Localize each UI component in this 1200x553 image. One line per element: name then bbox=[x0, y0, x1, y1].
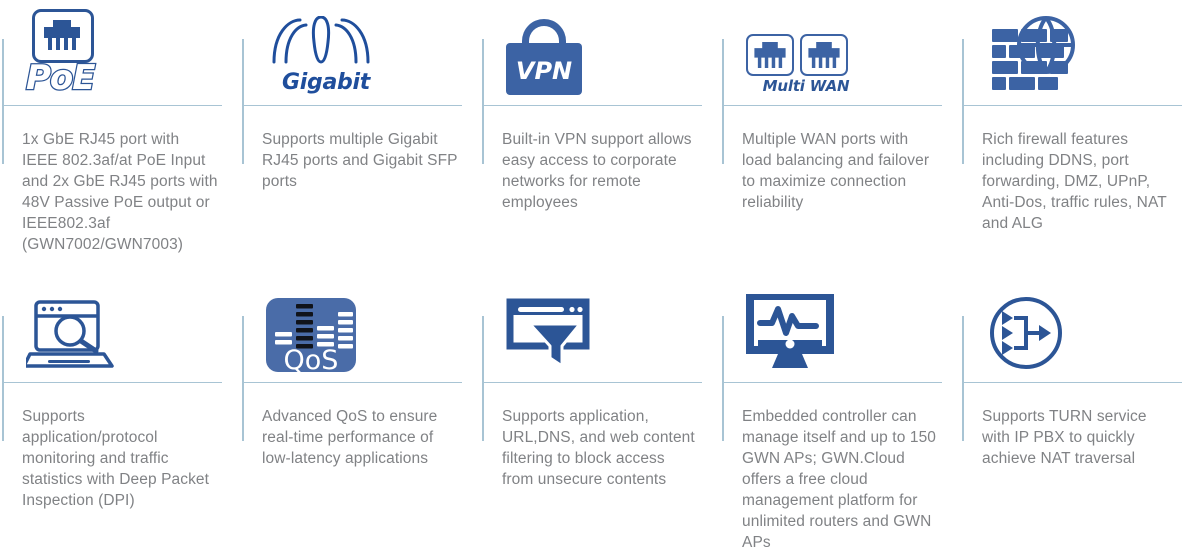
divider-rule bbox=[960, 372, 1200, 396]
divider-horizontal bbox=[962, 105, 1182, 106]
firewall-icon-wrap bbox=[960, 0, 1200, 95]
browser-funnel-filter-icon bbox=[506, 298, 590, 372]
feature-description: Supports multiple Gigabit RJ45 ports and… bbox=[240, 119, 480, 192]
divider-horizontal bbox=[242, 382, 462, 383]
vpn-icon-wrap: VPN bbox=[480, 0, 720, 95]
divider-vertical bbox=[2, 316, 4, 441]
divider-vertical bbox=[722, 316, 724, 441]
nat-traversal-glyph bbox=[986, 294, 1066, 372]
vpn-wordmark: VPN bbox=[516, 57, 572, 85]
feature-card-firewall: Rich firewall features including DDNS, p… bbox=[960, 0, 1200, 280]
equalizer-bars-glyph bbox=[266, 298, 356, 352]
divider-horizontal bbox=[242, 105, 462, 106]
divider-vertical bbox=[962, 316, 964, 441]
feature-card-turn-nat: Supports TURN service with IP PBX to qui… bbox=[960, 280, 1200, 544]
lock-shackle bbox=[522, 19, 566, 53]
divider-rule bbox=[480, 95, 720, 119]
divider-vertical bbox=[482, 316, 484, 441]
feature-card-vpn: VPN Built-in VPN support allows easy acc… bbox=[480, 0, 720, 280]
dpi-icon-wrap bbox=[0, 280, 240, 372]
divider-vertical bbox=[242, 316, 244, 441]
lock-body: VPN bbox=[506, 43, 582, 95]
divider-vertical bbox=[962, 39, 964, 164]
divider-rule bbox=[720, 95, 960, 119]
feature-description: Supports TURN service with IP PBX to qui… bbox=[960, 396, 1200, 469]
rj45-jack-outline-1 bbox=[746, 34, 794, 76]
rj45-jack-pair bbox=[746, 34, 866, 76]
feature-description: Advanced QoS to ensure real-time perform… bbox=[240, 396, 480, 469]
firewall-globe-glyph bbox=[986, 13, 1082, 95]
filter-icon-wrap bbox=[480, 280, 720, 372]
divider-horizontal bbox=[722, 105, 942, 106]
rj45-jack-glyph-2 bbox=[807, 42, 841, 68]
qos-wordmark: QoS bbox=[266, 347, 356, 374]
feature-card-multi-wan: Multi WAN Multiple WAN ports with load b… bbox=[720, 0, 960, 280]
divider-rule bbox=[960, 95, 1200, 119]
divider-vertical bbox=[722, 39, 724, 164]
feature-description: Multiple WAN ports with load balancing a… bbox=[720, 119, 960, 213]
divider-vertical bbox=[2, 39, 4, 164]
controller-icon-wrap bbox=[720, 280, 960, 372]
gigabit-icon: Gigabit bbox=[266, 16, 386, 95]
qos-icon-wrap: QoS bbox=[240, 280, 480, 372]
gigabit-icon-wrap: Gigabit bbox=[240, 0, 480, 95]
rj45-jack-glyph bbox=[44, 20, 80, 50]
feature-card-embedded-controller: Embedded controller can manage itself an… bbox=[720, 280, 960, 544]
divider-rule bbox=[0, 372, 240, 396]
rj45-jack-glyph-1 bbox=[753, 42, 787, 68]
monitor-pulse-icon bbox=[746, 294, 834, 372]
laptop-magnifier-glyph bbox=[26, 298, 118, 372]
feature-card-qos: QoS Advanced QoS to ensure real-time per… bbox=[240, 280, 480, 544]
divider-horizontal bbox=[2, 382, 222, 383]
multi-wan-icon: Multi WAN bbox=[746, 34, 866, 95]
divider-vertical bbox=[482, 39, 484, 164]
feature-card-content-filtering: Supports application, URL,DNS, and web c… bbox=[480, 280, 720, 544]
feature-description: Embedded controller can manage itself an… bbox=[720, 396, 960, 553]
gigabit-signal-glyph bbox=[266, 16, 376, 68]
nat-traversal-arrows-icon bbox=[986, 294, 1066, 372]
divider-horizontal bbox=[962, 382, 1182, 383]
divider-rule bbox=[720, 372, 960, 396]
feature-row-2: Supports application/protocol monitoring… bbox=[0, 280, 1200, 544]
browser-funnel-glyph bbox=[506, 298, 590, 372]
laptop-magnifier-icon bbox=[26, 298, 118, 372]
divider-horizontal bbox=[2, 105, 222, 106]
poe-wordmark: PoE bbox=[26, 61, 122, 95]
feature-card-poe: PoE 1x GbE RJ45 port with IEEE 802.3af/a… bbox=[0, 0, 240, 280]
nat-icon-wrap bbox=[960, 280, 1200, 372]
divider-horizontal bbox=[482, 382, 702, 383]
feature-description: 1x GbE RJ45 port with IEEE 802.3af/at Po… bbox=[0, 119, 240, 255]
feature-description: Built-in VPN support allows easy access … bbox=[480, 119, 720, 213]
divider-rule bbox=[0, 95, 240, 119]
feature-description: Rich firewall features including DDNS, p… bbox=[960, 119, 1200, 234]
feature-description: Supports application, URL,DNS, and web c… bbox=[480, 396, 720, 490]
rj45-jack-outline-2 bbox=[800, 34, 848, 76]
monitor-pulse-glyph bbox=[746, 294, 834, 372]
divider-horizontal bbox=[482, 105, 702, 106]
divider-vertical bbox=[242, 39, 244, 164]
poe-icon-wrap: PoE bbox=[0, 0, 240, 95]
feature-row-1: PoE 1x GbE RJ45 port with IEEE 802.3af/a… bbox=[0, 0, 1200, 280]
multi-wan-wordmark: Multi WAN bbox=[746, 77, 866, 95]
divider-horizontal bbox=[722, 382, 942, 383]
feature-description: Supports application/protocol monitoring… bbox=[0, 396, 240, 511]
gigabit-wordmark: Gigabit bbox=[266, 70, 386, 95]
feature-card-dpi: Supports application/protocol monitoring… bbox=[0, 280, 240, 544]
divider-rule bbox=[240, 95, 480, 119]
multi-wan-icon-wrap: Multi WAN bbox=[720, 0, 960, 95]
qos-equalizer-icon: QoS bbox=[266, 298, 356, 372]
firewall-globe-icon bbox=[986, 13, 1082, 95]
poe-icon: PoE bbox=[26, 9, 122, 95]
vpn-lock-icon: VPN bbox=[506, 43, 592, 95]
feature-card-gigabit: Gigabit Supports multiple Gigabit RJ45 p… bbox=[240, 0, 480, 280]
feature-grid: PoE 1x GbE RJ45 port with IEEE 802.3af/a… bbox=[0, 0, 1200, 544]
rj45-jack-outline bbox=[32, 9, 94, 63]
divider-rule bbox=[240, 372, 480, 396]
divider-rule bbox=[480, 372, 720, 396]
